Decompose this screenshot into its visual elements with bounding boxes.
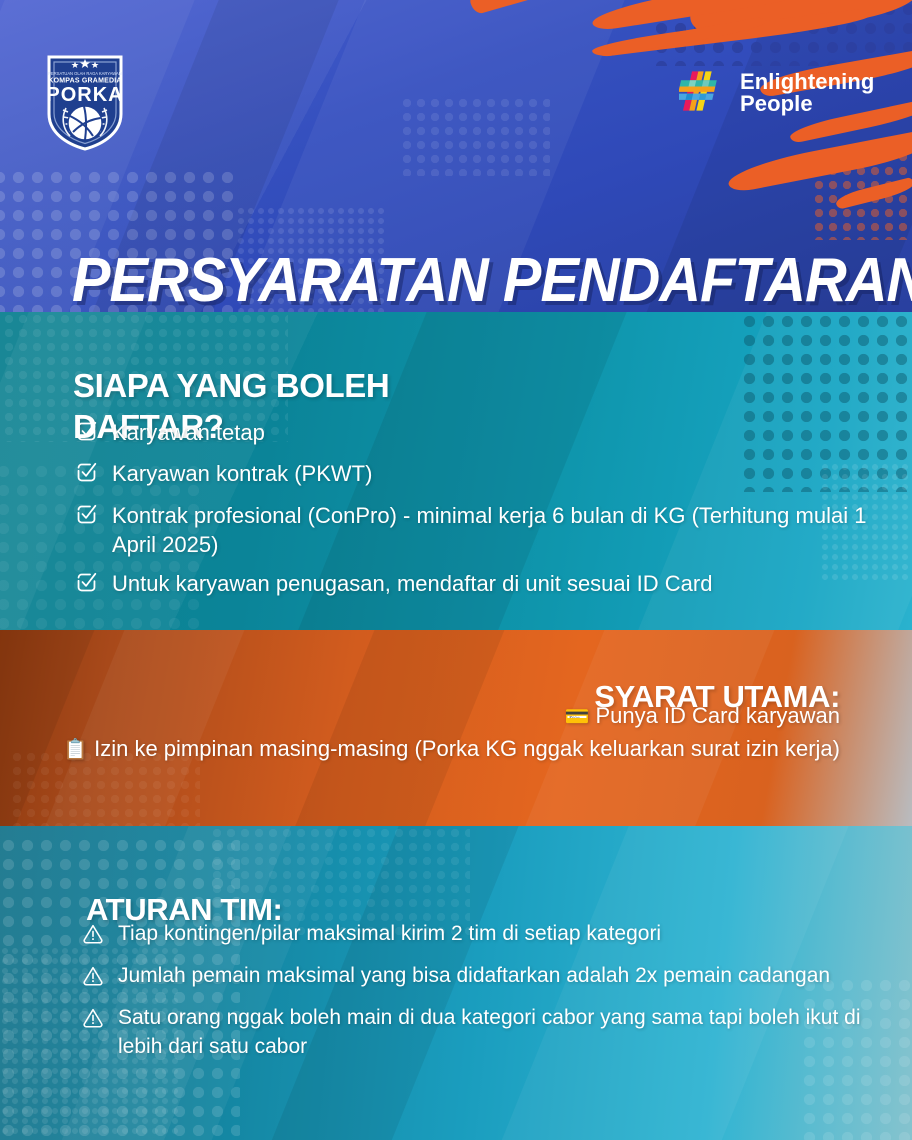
porka-logo: PERSATUAN OLAH RAGA KARYAWAN KOMPAS GRAM… bbox=[46, 52, 124, 152]
list-item: Tiap kontingen/pilar maksimal kirim 2 ti… bbox=[82, 920, 872, 954]
eligibility-list: Karyawan tetap Karyawan kontrak (PKWT) K… bbox=[75, 418, 891, 610]
hashtag-icon bbox=[679, 66, 729, 121]
list-item-text: Tiap kontingen/pilar maksimal kirim 2 ti… bbox=[118, 920, 661, 949]
credit-card-icon: 💳 bbox=[565, 706, 590, 728]
header-band: PERSATUAN OLAH RAGA KARYAWAN KOMPAS GRAM… bbox=[0, 0, 912, 312]
enlightening-people-wordmark: Enlightening People bbox=[740, 71, 874, 116]
porka-name: PORKA bbox=[46, 84, 123, 106]
list-item: 📋Izin ke pimpinan masing-masing (Porka K… bbox=[0, 733, 840, 764]
list-item: Satu orang nggak boleh main di dua kateg… bbox=[82, 1004, 872, 1062]
ep-line-1: Enlightening bbox=[740, 71, 874, 93]
clipboard-icon: 📋 bbox=[63, 739, 88, 761]
list-item-text: Karyawan tetap bbox=[112, 418, 265, 447]
page-title: PERSYARATAN PENDAFTARAN bbox=[72, 250, 912, 312]
checkbox-check-icon bbox=[75, 503, 98, 533]
warning-triangle-icon bbox=[82, 923, 104, 954]
checkbox-check-icon bbox=[75, 571, 98, 601]
list-item: Jumlah pemain maksimal yang bisa didafta… bbox=[82, 962, 872, 996]
list-item-text: Satu orang nggak boleh main di dua kateg… bbox=[118, 1004, 872, 1062]
enlightening-people-logo: Enlightening People bbox=[679, 62, 874, 124]
porka-org-line: PERSATUAN OLAH RAGA KARYAWAN bbox=[48, 71, 121, 76]
ep-line-2: People bbox=[740, 93, 874, 115]
list-item-text: Kontrak profesional (ConPro) - minimal k… bbox=[112, 501, 891, 560]
warning-triangle-icon bbox=[82, 965, 104, 996]
list-item: Karyawan tetap bbox=[75, 418, 891, 450]
list-item: 💳Punya ID Card karyawan bbox=[0, 700, 840, 731]
list-item: Untuk karyawan penugasan, mendaftar di u… bbox=[75, 569, 891, 601]
list-item-text: Karyawan kontrak (PKWT) bbox=[112, 459, 372, 488]
warning-triangle-icon bbox=[82, 1007, 104, 1038]
list-item-text: Punya ID Card karyawan bbox=[595, 703, 840, 728]
list-item: Kontrak profesional (ConPro) - minimal k… bbox=[75, 501, 891, 560]
checkbox-check-icon bbox=[75, 420, 98, 450]
main-requirements-list: 💳Punya ID Card karyawan 📋Izin ke pimpina… bbox=[0, 700, 840, 767]
halftone-dots bbox=[400, 96, 550, 176]
list-item-text: Untuk karyawan penugasan, mendaftar di u… bbox=[112, 569, 712, 598]
list-item-text: Jumlah pemain maksimal yang bisa didafta… bbox=[118, 962, 830, 991]
team-rules-list: Tiap kontingen/pilar maksimal kirim 2 ti… bbox=[82, 920, 872, 1070]
list-item: Karyawan kontrak (PKWT) bbox=[75, 459, 891, 491]
poster-root: PERSATUAN OLAH RAGA KARYAWAN KOMPAS GRAM… bbox=[0, 0, 912, 1140]
list-item-text: Izin ke pimpinan masing-masing (Porka KG… bbox=[94, 736, 840, 761]
checkbox-check-icon bbox=[75, 461, 98, 491]
